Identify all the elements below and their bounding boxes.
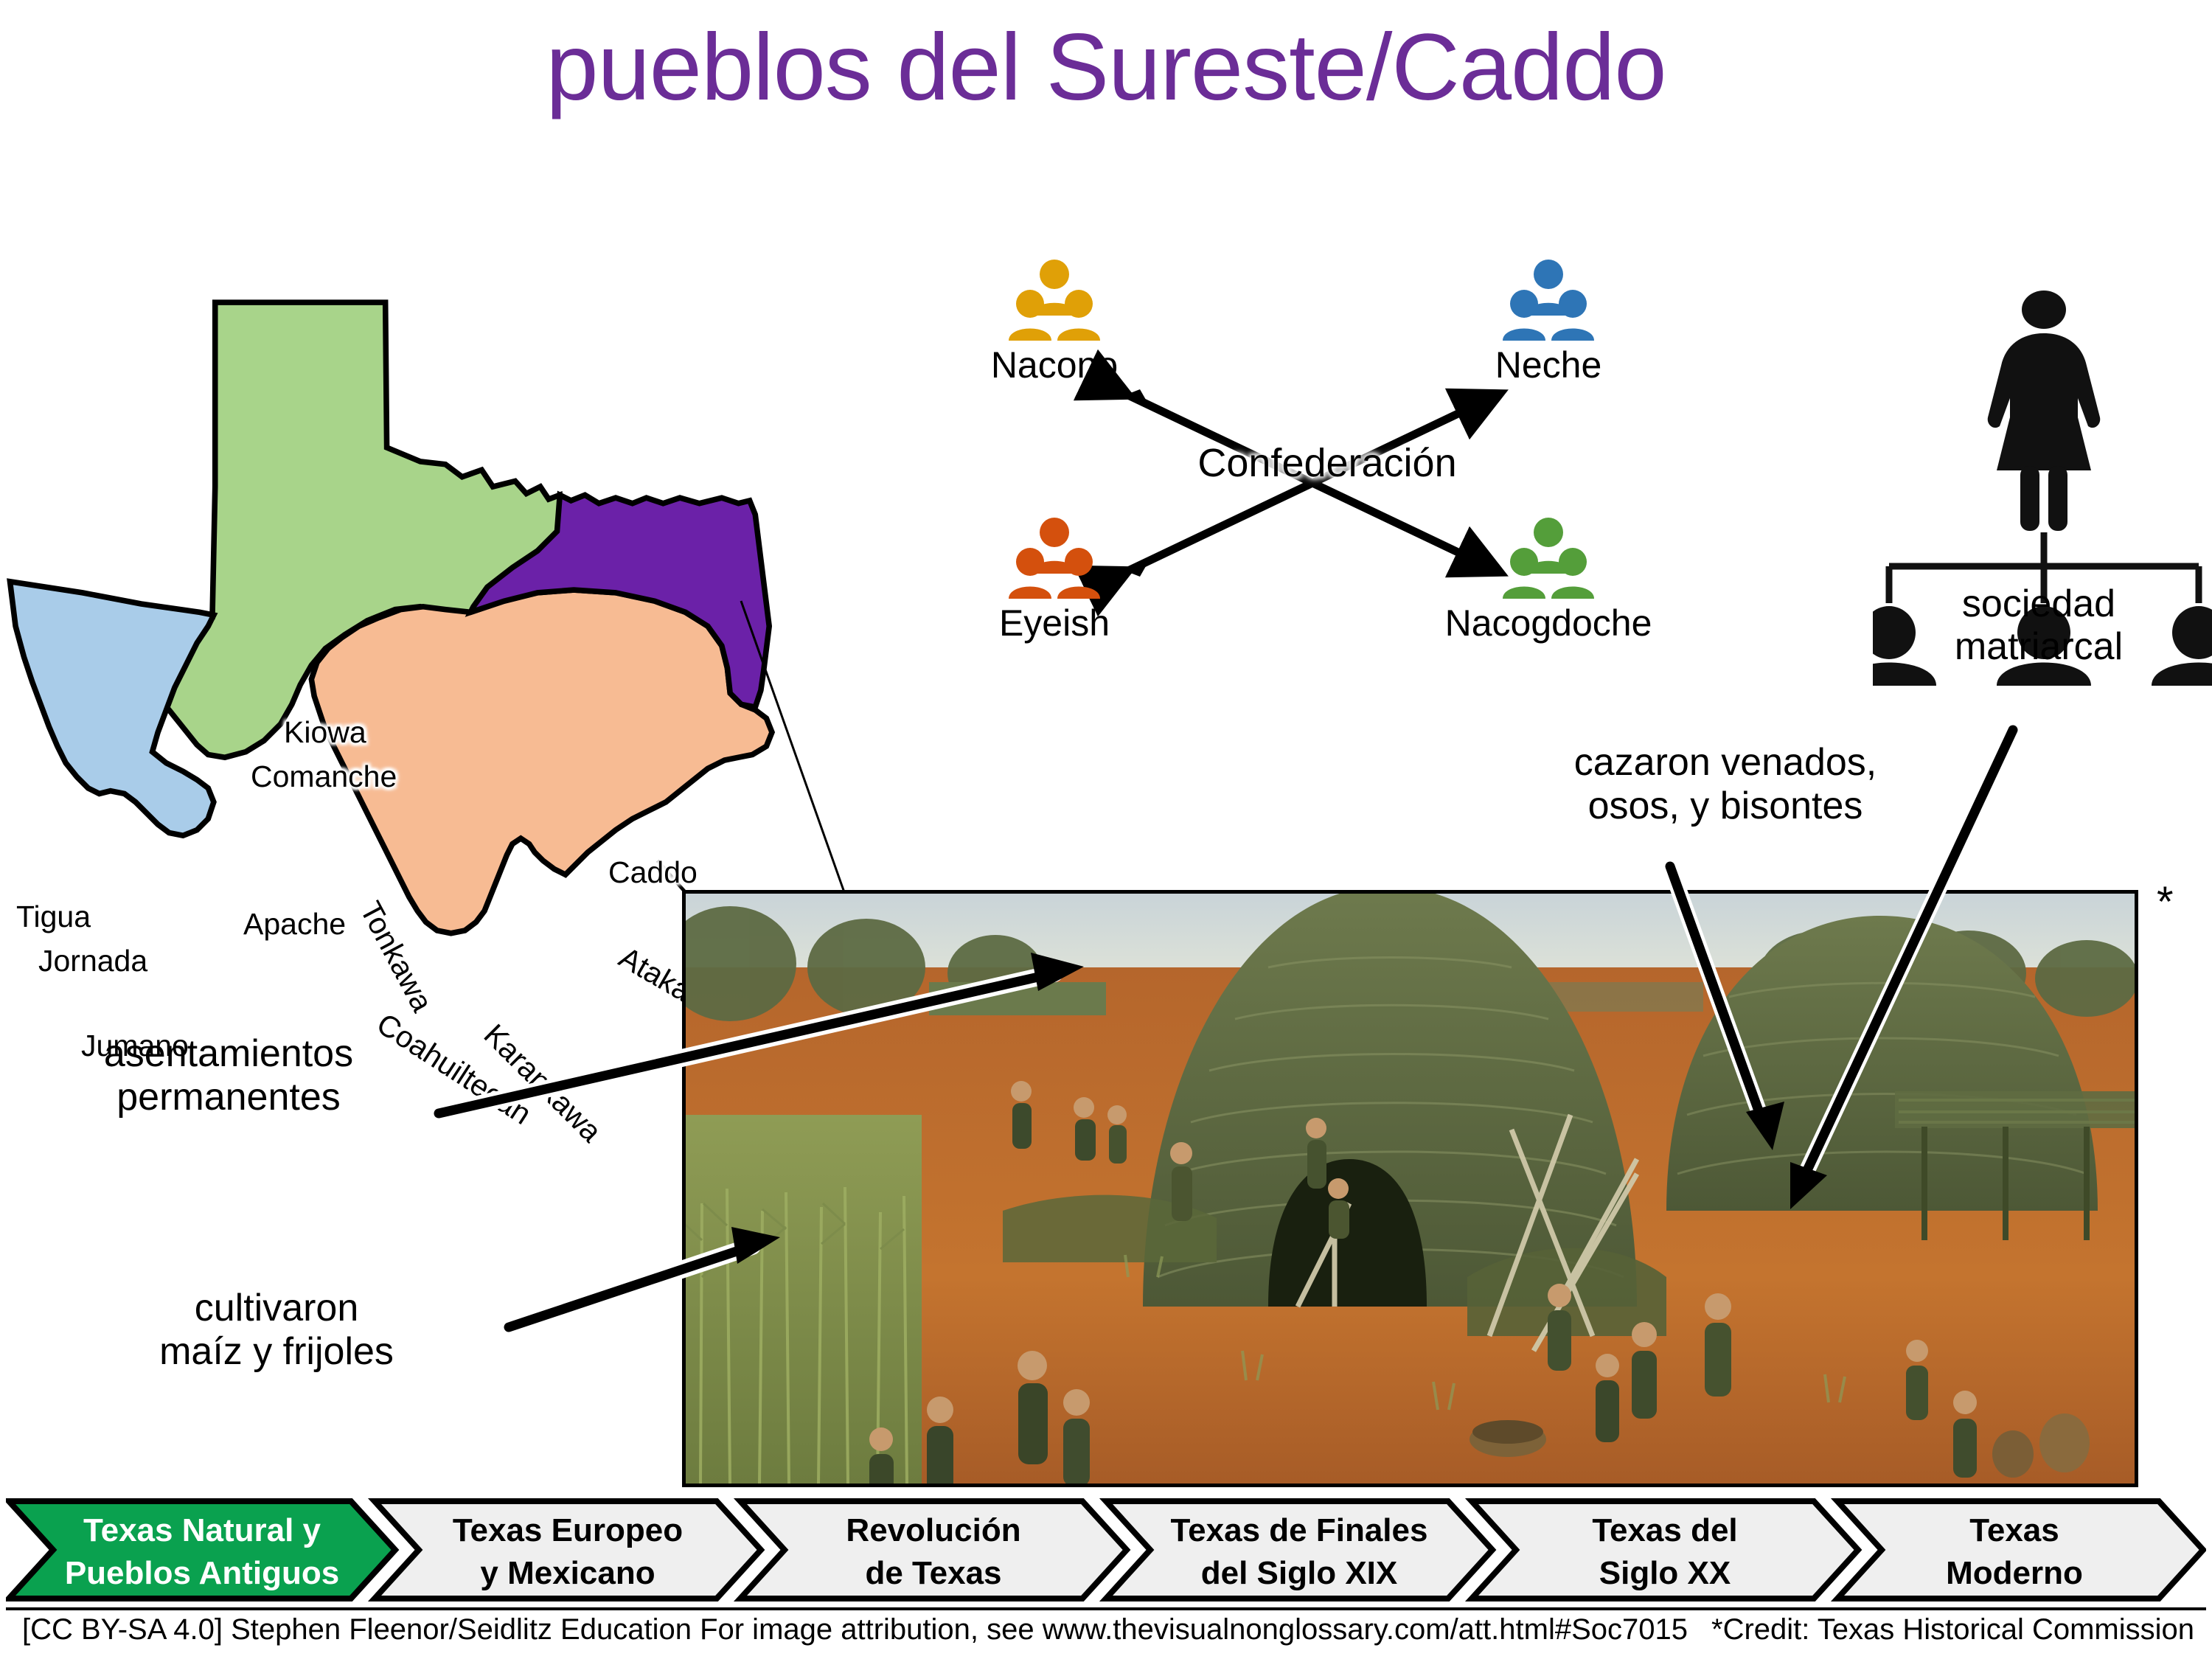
matriarchal-society-label: sociedad matriarcal: [1865, 582, 2212, 668]
callout-hunted: cazaron venados, osos, y bisontes: [1497, 741, 1954, 829]
callout-crops: cultivaron maíz y frijoles: [103, 1287, 450, 1374]
page-title: pueblos del Sureste/Caddo: [0, 21, 2212, 115]
map-region-south: [311, 590, 772, 933]
confederation-node-neche: Neche: [1438, 258, 1659, 386]
timeline-label-2-line2: de Texas: [865, 1555, 1001, 1591]
matriarchal-label-line2: matriarcal: [1865, 625, 2212, 668]
timeline-label-2-line1: Revolución: [846, 1512, 1020, 1548]
timeline-label-3-line2: del Siglo XIX: [1201, 1555, 1398, 1591]
caddo-village-illustration: [682, 890, 2138, 1487]
era-timeline: Texas Natural y Pueblos Antiguos Texas E…: [6, 1498, 2206, 1601]
people-group-icon: [1438, 516, 1659, 599]
timeline-label-4-line2: Siglo XX: [1599, 1555, 1731, 1591]
confederation-label-eyeish: Eyeish: [944, 602, 1165, 644]
pot: [2039, 1413, 2090, 1472]
footer: [CC BY-SA 4.0] Stephen Fleenor/Seidlitz …: [0, 1607, 2212, 1653]
timeline-label-3-line1: Texas de Finales: [1171, 1512, 1428, 1548]
timeline-label-1-line1: Texas Europeo: [453, 1512, 683, 1548]
confederation-node-eyeish: Eyeish: [944, 516, 1165, 644]
photo-credit-asterisk: *: [2157, 881, 2174, 924]
timeline-label-5-line1: Texas: [1969, 1512, 2059, 1548]
woman-icon: [1988, 291, 2101, 531]
confederation-diagram: Nacono Neche: [951, 265, 1703, 693]
people-group-icon: [944, 516, 1165, 599]
people-group-icon: [1438, 258, 1659, 341]
callout-settlements-line1: asentamientos: [37, 1032, 420, 1076]
footer-divider: [6, 1607, 2206, 1610]
confederation-node-nacogdoche: Nacogdoche: [1438, 516, 1659, 644]
infographic-page: pueblos del Sureste/Caddo Kiowa Comanche…: [0, 0, 2212, 1659]
callout-crops-line2: maíz y frijoles: [103, 1330, 450, 1374]
timeline-label-5-line2: Moderno: [1946, 1555, 2083, 1591]
callout-hunted-line2: osos, y bisontes: [1497, 785, 1954, 828]
confederation-center-label: Confederación: [951, 440, 1703, 486]
matriarchal-label-line1: sociedad: [1865, 582, 2212, 625]
timeline-label-0-line1: Texas Natural y: [83, 1512, 321, 1548]
confederation-node-nacono: Nacono: [944, 258, 1165, 386]
timeline-label-0-line2: Pueblos Antiguos: [65, 1555, 339, 1591]
timeline-label-1-line2: y Mexicano: [480, 1555, 655, 1591]
credit-text: *Credit: Texas Historical Commission: [1711, 1613, 2194, 1646]
callout-hunted-line1: cazaron venados,: [1497, 741, 1954, 785]
confederation-label-nacono: Nacono: [944, 344, 1165, 386]
people-group-icon: [944, 258, 1165, 341]
callout-settlements-line2: permanentes: [37, 1076, 420, 1119]
confederation-label-nacogdoche: Nacogdoche: [1438, 602, 1659, 644]
callout-permanent-settlements: asentamientos permanentes: [37, 1032, 420, 1120]
confederation-label-neche: Neche: [1438, 344, 1659, 386]
callout-crops-line1: cultivaron: [103, 1287, 450, 1330]
attribution-text: [CC BY-SA 4.0] Stephen Fleenor/Seidlitz …: [22, 1613, 1688, 1646]
timeline-label-4-line1: Texas del: [1592, 1512, 1737, 1548]
